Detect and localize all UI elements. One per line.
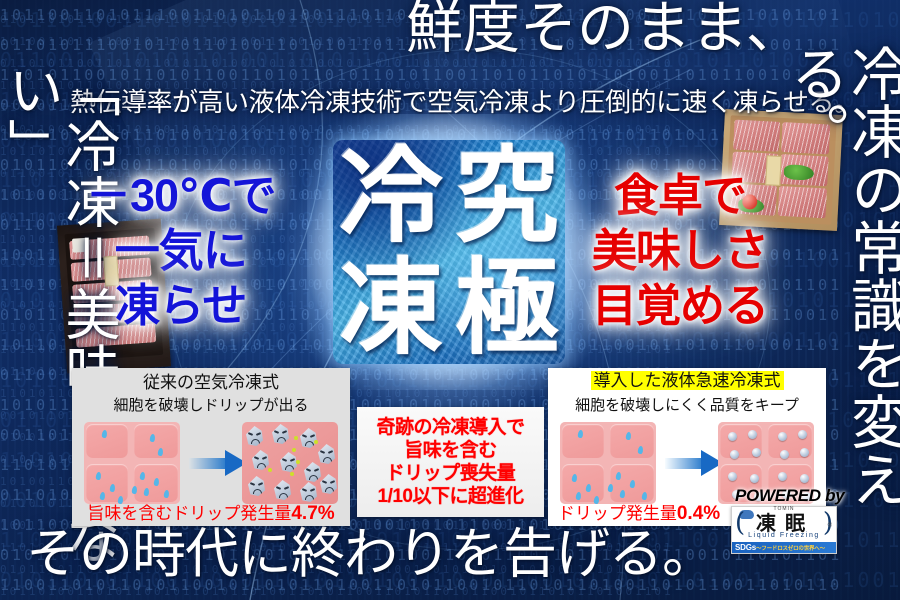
panel-conventional: 従来の空気冷凍式 細胞を破壊しドリップが出る (72, 368, 350, 526)
callout-line-4: 1/10以下に超進化 (378, 486, 524, 507)
brand-logo: 冷 究 凍 極 (333, 140, 565, 364)
sdgs-tagline: ～フードロスゼロの世界へ～ (756, 546, 825, 552)
callout-text: 奇跡の冷凍導入で 旨味を含む ドリップ喪失量 1/10以下に超進化 (376, 416, 524, 508)
tomin-mark-kanji: 凍眠 (752, 512, 818, 534)
callout-line-2: 旨味を含む (404, 440, 497, 461)
stat-liquid: ドリップ発生量0.4% (548, 504, 730, 524)
stat-liquid-value: 0.4% (677, 503, 720, 524)
logo-char-1: 冷 (333, 140, 449, 252)
cell-diagram-after-damaged (242, 422, 338, 504)
right-arrow-icon (665, 450, 723, 476)
cell-diagram-before-liquid (560, 422, 656, 504)
stat-liquid-label: ドリップ発生量 (558, 504, 677, 523)
panel-conventional-caption: 従来の空気冷凍式 (72, 372, 350, 394)
stat-conventional: 旨味を含むドリップ発生量4.7% (72, 504, 350, 524)
poster-root: 1011010011010110010110101101001101011001… (0, 0, 900, 600)
callout-line-1: 奇跡の冷凍導入で (376, 417, 524, 438)
tomin-mark-romaji: Liquid Freezing (732, 532, 836, 540)
claim-blue-line-2: 一気に (86, 223, 276, 278)
sdgs-banner: SDGs～フードロスゼロの世界へ～ (732, 542, 836, 553)
callout-box: 奇跡の冷凍導入で 旨味を含む ドリップ喪失量 1/10以下に超進化 (357, 407, 544, 517)
claim-blue-line-1: －30℃で (86, 168, 276, 223)
logo-ice-tile: 冷 究 凍 極 (333, 140, 565, 364)
claim-blue-line-3: 凍らせ (86, 278, 276, 333)
sdgs-label: SDGs (735, 543, 756, 552)
claim-red: 食卓で 美味しさ 目覚める (592, 168, 768, 333)
callout-line-3: ドリップ喪失量 (386, 463, 516, 484)
panel-liquid-caption: 導入した液体急速冷凍式 (591, 371, 784, 390)
cell-diagram-before (84, 422, 180, 504)
powered-by-label: POWERED by (735, 487, 844, 505)
logo-char-4: 極 (449, 252, 565, 364)
panel-liquid-title: 細胞を破壊しにくく品質をキープ (548, 396, 826, 416)
stat-conventional-label: 旨味を含むドリップ発生量 (87, 504, 291, 523)
tomin-brand-mark: ( ) TOMIN 凍眠 Liquid Freezing ® SDGs～フードロ… (731, 506, 837, 554)
claim-red-line-3: 目覚める (592, 278, 768, 333)
headline-top: 鮮度そのまま、 (406, 0, 803, 58)
claim-red-line-2: 美味しさ (592, 223, 768, 278)
bottom-headline: その時代に終わりを告げる。 (26, 525, 715, 583)
right-arrow-icon (189, 450, 247, 476)
stat-conventional-value: 4.7% (291, 503, 334, 524)
claim-red-line-1: 食卓で (592, 168, 768, 223)
panel-conventional-title: 細胞を破壊しドリップが出る (72, 396, 350, 416)
registered-trademark-icon: ® (828, 523, 832, 529)
panel-liquid-caption-wrap: 導入した液体急速冷凍式 (548, 370, 826, 392)
logo-char-3: 凍 (333, 252, 449, 364)
claim-blue: －30℃で 一気に 凍らせ (86, 168, 276, 333)
logo-char-2: 究 (449, 140, 565, 252)
